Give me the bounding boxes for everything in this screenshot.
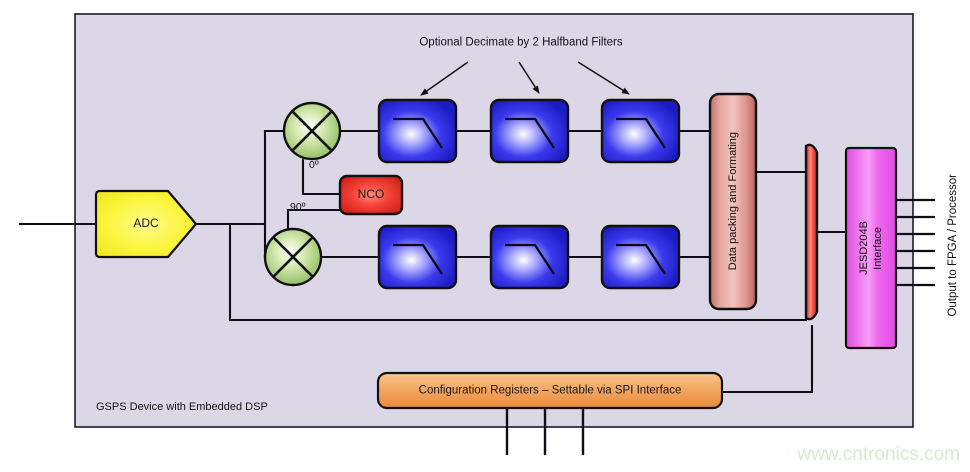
output-label-wrap: Output to FPGA / Processor bbox=[940, 145, 966, 345]
jesd204b-label-wrap: JESD204B Interface bbox=[846, 148, 896, 348]
jesd204b-label-line2: Interface bbox=[872, 227, 884, 270]
data-packing-label-wrap: Data packing and Formating bbox=[710, 94, 756, 309]
mixer-i-block[interactable] bbox=[284, 103, 340, 159]
config-registers-label: Configuration Registers – Settable via S… bbox=[419, 384, 682, 397]
phase-label-zero: 0º bbox=[309, 159, 319, 171]
filter-bottom-3[interactable] bbox=[602, 226, 679, 288]
device-boundary bbox=[75, 14, 913, 427]
annotation-label: Optional Decimate by 2 Halfband Filters bbox=[419, 36, 622, 49]
jesd204b-label-line1: JESD204B bbox=[858, 221, 870, 275]
mixer-q-block[interactable] bbox=[265, 229, 321, 285]
phase-label-ninety: 90º bbox=[290, 201, 306, 213]
filter-top-3[interactable] bbox=[602, 100, 679, 162]
data-packing-label: Data packing and Formating bbox=[727, 132, 739, 270]
filter-top-2[interactable] bbox=[491, 100, 568, 162]
mux-block[interactable] bbox=[806, 145, 817, 319]
output-label: Output to FPGA / Processor bbox=[947, 174, 959, 317]
filter-top-1[interactable] bbox=[379, 100, 456, 162]
adc-label: ADC bbox=[133, 217, 158, 231]
filter-bottom-2[interactable] bbox=[491, 226, 568, 288]
device-caption: GSPS Device with Embedded DSP bbox=[96, 401, 268, 414]
diagram-canvas: Optional Decimate by 2 Halfband Filters … bbox=[0, 0, 970, 472]
watermark: www.cntronics.com bbox=[797, 444, 960, 466]
nco-label: NCO bbox=[358, 188, 385, 202]
filter-bottom-1[interactable] bbox=[379, 226, 456, 288]
